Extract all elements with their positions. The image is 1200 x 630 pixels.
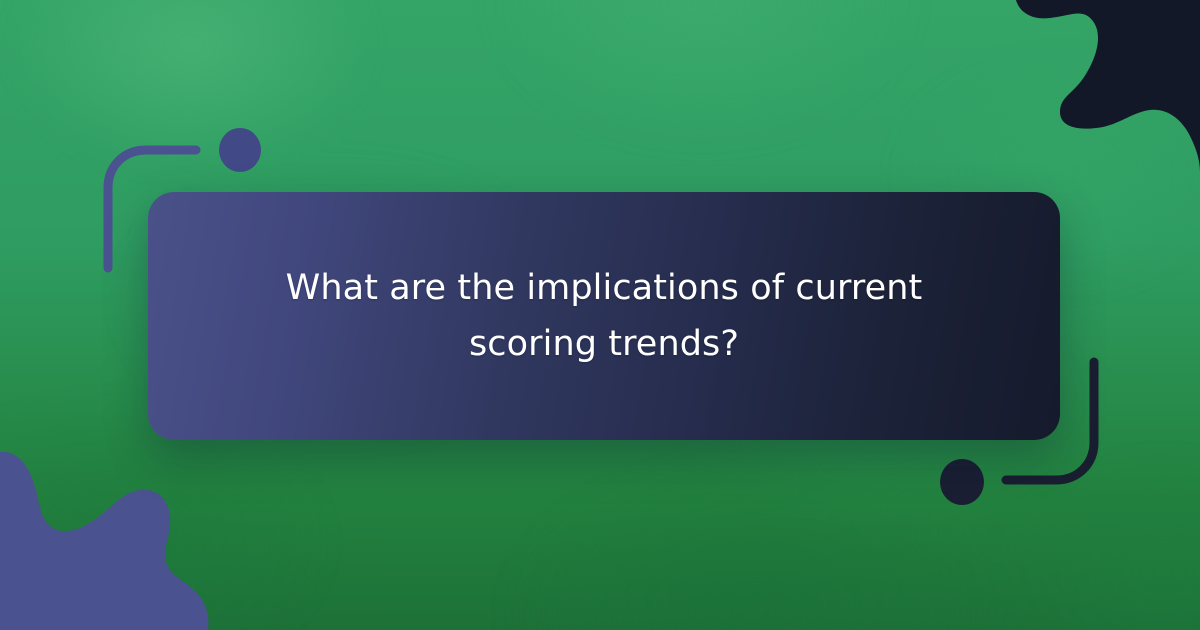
quote-text: What are the implications of current sco…	[224, 260, 984, 372]
accent-dot-top-left-icon	[219, 128, 261, 172]
quote-card: What are the implications of current sco…	[148, 192, 1060, 440]
quote-card-canvas: What are the implications of current sco…	[0, 0, 1200, 630]
accent-dot-bottom-right-icon	[940, 459, 984, 505]
